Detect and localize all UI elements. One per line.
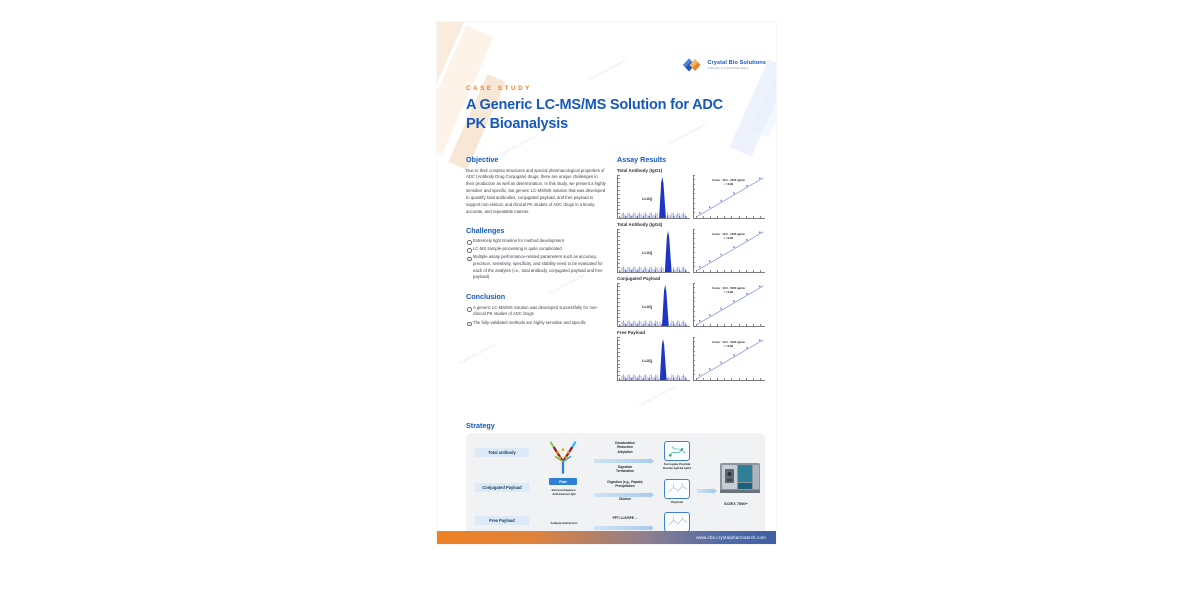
watermark-text: Crystal Bio Solutions [458, 343, 496, 366]
logo-company-name: Crystal Bio Solutions [707, 60, 766, 66]
conclusion-section: Conclusion A generic LC-MS/MS solution w… [466, 292, 606, 326]
arrow-ppt [594, 526, 650, 530]
kicker-case-study: CASE STUDY [466, 85, 532, 92]
payload-molecule-icon [664, 479, 690, 499]
step-denaturation: Denaturation Reduction Alkylation [594, 441, 656, 454]
strategy-diagram: Total antibody Conjugated Payload Free P… [466, 433, 765, 539]
calibration-curve-plot: Curve : 10.0 - 5000 ng/mLr >0.99 [693, 283, 766, 327]
calibration-curve-plot: Curve : 10.0 - 1000 ng/mLr >0.99 [693, 337, 766, 381]
poster-footer: www.cbs.crystalpharmatech.com [437, 531, 776, 544]
curve-annotation: Curve : 10.0 - 1000 ng/mLr >0.99 [712, 341, 745, 349]
objective-text: Due to their complex structures and spec… [466, 168, 606, 216]
objective-section: Objective Due to their complex structure… [466, 155, 606, 216]
step-digestion: Digestion Termination [594, 465, 656, 474]
logo-tagline: A Member of Crystal Pharmatech [707, 67, 766, 70]
calibration-curve-plot: Curve : 10.0 - 1000 ng/mLr >0.99 [693, 229, 766, 273]
challenges-section: Challenges Extremely tight timeline for … [466, 226, 606, 281]
list-item: LC-MS sample-processing is quite complic… [466, 246, 606, 253]
assay-panel: Total Antibody (IgG1)LLOQCurve : 10.0 - … [617, 168, 765, 219]
assay-panel: Total Antibody (IgG4)LLOQCurve : 10.0 - … [617, 222, 765, 273]
crystal-diamond-logo-icon [681, 54, 703, 76]
assay-panel: Conjugated PayloadLLOQCurve : 10.0 - 500… [617, 276, 765, 327]
immunocapture-caption: ImmunoCapture: Anti-Human IgG [538, 488, 590, 496]
chromatogram-plot: LLOQ [617, 175, 690, 219]
mass-spectrometer-icon [718, 457, 762, 502]
list-item: Extremely tight timeline for method deve… [466, 238, 606, 245]
curve-annotation: Curve : 10.0 - 1000 ng/mLr >0.99 [712, 179, 745, 187]
brand-logo: Crystal Bio Solutions A Member of Crysta… [681, 54, 766, 76]
plate-chip: Plate [549, 478, 577, 485]
assay-panels: Total Antibody (IgG1)LLOQCurve : 10.0 - … [617, 168, 765, 381]
strategy-row-conjugated-payload: Conjugated Payload [475, 483, 529, 492]
arrow-denature [594, 459, 650, 463]
payload-molecule-icon [664, 512, 690, 532]
chromatogram-plot: LLOQ [617, 283, 690, 327]
chromatogram-plot: LLOQ [617, 337, 690, 381]
step-ppt: PPT/ LLE/SPE ... [594, 516, 656, 520]
page-title: A Generic LC-MS/MS Solution for ADC PK B… [466, 96, 736, 134]
conclusion-heading: Conclusion [466, 292, 606, 301]
watermark-text: Crystal Bio Solutions [638, 385, 676, 408]
chromatogram-plot: LLOQ [617, 229, 690, 273]
case-study-poster: Crystal Bio Solutions Crystal Bio Soluti… [437, 22, 776, 544]
instrument-label: SCIEX 7500+ [724, 501, 748, 506]
payload-caption-1: Payload [662, 500, 692, 504]
lloq-label: LLOQ [642, 305, 652, 309]
curve-annotation: Curve : 10.0 - 1000 ng/mLr >0.99 [712, 233, 745, 241]
lloq-label: LLOQ [642, 359, 652, 363]
step-papain: Digestion (e.g., Papain) Precipitation [588, 480, 662, 489]
assay-panel-title: Total Antibody (IgG4) [617, 222, 765, 227]
list-item: The fully-validated methods are highly s… [466, 320, 606, 327]
left-column: Objective Due to their complex structure… [466, 155, 606, 328]
strategy-row-total-antibody: Total antibody [475, 448, 529, 457]
peptide-molecule-icon [664, 441, 690, 461]
assay-panel-title: Total Antibody (IgG1) [617, 168, 765, 173]
conclusion-list: A generic LC-MS/MS solution was develope… [466, 305, 606, 326]
assay-results-column: Assay Results Total Antibody (IgG1)LLOQC… [617, 155, 765, 384]
lloq-label: LLOQ [642, 197, 652, 201]
poster-header: Crystal Bio Solutions A Member of Crysta… [437, 22, 776, 146]
assay-results-heading: Assay Results [617, 155, 765, 164]
curve-annotation: Curve : 10.0 - 5000 ng/mLr >0.99 [712, 287, 745, 295]
strategy-row-free-payload: Free Payload [475, 516, 529, 525]
strategy-heading: Strategy [466, 421, 495, 430]
arrow-to-instrument [697, 489, 713, 493]
challenges-list: Extremely tight timeline for method deve… [466, 238, 606, 281]
analyte-extraction-label: Analyte Extraction [534, 521, 594, 525]
assay-panel-title: Free Payload [617, 330, 765, 335]
objective-heading: Objective [466, 155, 606, 164]
assay-panel: Free PayloadLLOQCurve : 10.0 - 1000 ng/m… [617, 330, 765, 381]
step-dilution: Dilution [594, 497, 656, 501]
surrogate-peptide-caption: Surrogate Peptide Human IgG1& IgG4 [652, 462, 702, 470]
challenges-heading: Challenges [466, 226, 606, 235]
screenshot-canvas: Crystal Bio Solutions Crystal Bio Soluti… [0, 0, 1200, 600]
lloq-label: LLOQ [642, 251, 652, 255]
list-item: A generic LC-MS/MS solution was develope… [466, 305, 606, 318]
assay-panel-title: Conjugated Payload [617, 276, 765, 281]
footer-url[interactable]: www.cbs.crystalpharmatech.com [696, 535, 766, 540]
list-item: Multiple assay performance-related param… [466, 254, 606, 280]
calibration-curve-plot: Curve : 10.0 - 1000 ng/mLr >0.99 [693, 175, 766, 219]
